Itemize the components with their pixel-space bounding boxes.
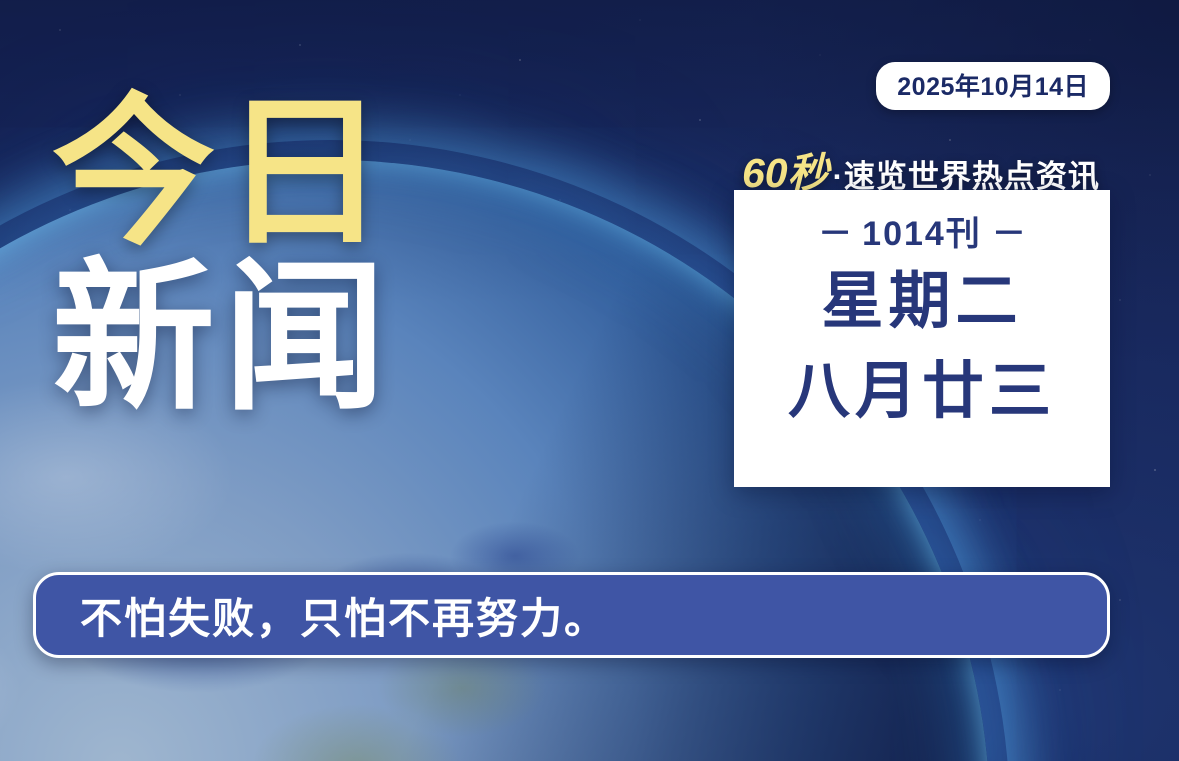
news-poster: 今日 新闻 2025年10月14日 60秒·速览世界热点资讯 －1014刊－ 星… (0, 0, 1179, 761)
issue-dash-left: － (818, 215, 852, 253)
quote-text: 不怕失败，只怕不再努力。 (36, 585, 608, 646)
weekday-label: 星期二 (821, 271, 1022, 333)
brand-title-line-1: 今日 (52, 96, 394, 249)
issue-line: －1014刊－ (808, 206, 1036, 255)
poster-content: 今日 新闻 2025年10月14日 60秒·速览世界热点资讯 －1014刊－ 星… (0, 0, 1179, 761)
tagline-description: ·速览世界热点资讯 (833, 159, 1100, 194)
date-badge: 2025年10月14日 (876, 62, 1110, 110)
issue-number: 1014刊 (862, 215, 982, 253)
brand-title-line-2: 新闻 (52, 261, 394, 414)
issue-dash-right: － (992, 215, 1026, 253)
brand-title: 今日 新闻 (52, 96, 394, 414)
info-card: －1014刊－ 星期二 八月廿三 (734, 190, 1110, 487)
quote-bar: 不怕失败，只怕不再努力。 (33, 572, 1110, 658)
lunar-date-label: 八月廿三 (788, 361, 1056, 423)
